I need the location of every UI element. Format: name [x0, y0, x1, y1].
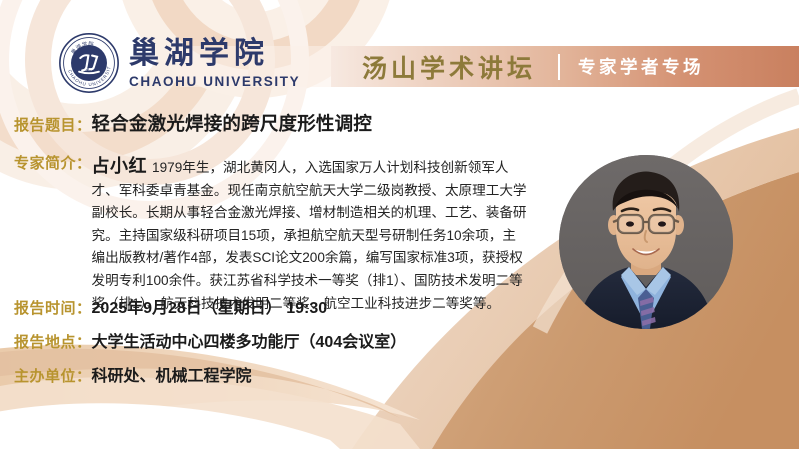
speaker-bio-row: 专家简介： 占小红1979年生，湖北黄冈人，入选国家万人计划科技创新领军人才、军… — [14, 152, 529, 315]
organizer-label: 主办单位： — [14, 365, 92, 386]
chaohu-university-seal-icon: 1977 巢湖学院 CHAOHU UNIVERSITY — [58, 32, 120, 94]
speaker-portrait-photo — [559, 155, 733, 329]
speaker-bio-label: 专家简介： — [14, 152, 92, 173]
forum-sub-title: 专家学者专场 — [578, 54, 704, 79]
forum-main-title: 汤山学术讲坛 — [362, 49, 536, 85]
report-title-value: 轻合金激光焊接的跨尺度形性调控 — [92, 110, 373, 136]
seminar-poster: 1977 巢湖学院 CHAOHU UNIVERSITY 巢湖学院 CHAOHU … — [0, 0, 799, 449]
report-place-label: 报告地点： — [14, 331, 92, 352]
report-place-value: 大学生活动中心四楼多功能厅（404会议室） — [92, 328, 407, 352]
speaker-bio-body: 占小红1979年生，湖北黄冈人，入选国家万人计划科技创新领军人才、军科委卓青基金… — [92, 152, 529, 315]
report-title-row: 报告题目： 轻合金激光焊接的跨尺度形性调控 — [14, 110, 372, 136]
report-time-value: 2025年9月28日（星期日） 19:30 — [92, 294, 328, 318]
university-name-block: 巢湖学院 CHAOHU UNIVERSITY — [129, 37, 300, 89]
organizer-row: 主办单位： 科研处、机械工程学院 — [14, 362, 252, 386]
university-name-cn: 巢湖学院 — [129, 37, 300, 72]
speaker-bio-text: 1979年生，湖北黄冈人，入选国家万人计划科技创新领军人才、军科委卓青基金。现任… — [92, 160, 527, 311]
report-title-label: 报告题目： — [14, 114, 92, 135]
svg-text:1977: 1977 — [85, 68, 93, 72]
speaker-name: 占小红 — [92, 156, 148, 176]
report-time-label: 报告时间： — [14, 297, 92, 318]
speaker-portrait-illustration — [559, 155, 733, 329]
report-place-row: 报告地点： 大学生活动中心四楼多功能厅（404会议室） — [14, 328, 406, 352]
university-name-en: CHAOHU UNIVERSITY — [129, 74, 300, 89]
forum-title-banner: 汤山学术讲坛 专家学者专场 — [331, 46, 799, 87]
university-identity: 1977 巢湖学院 CHAOHU UNIVERSITY 巢湖学院 CHAOHU … — [58, 32, 300, 94]
report-time-row: 报告时间： 2025年9月28日（星期日） 19:30 — [14, 294, 327, 318]
organizer-value: 科研处、机械工程学院 — [92, 362, 252, 386]
banner-divider — [558, 54, 560, 80]
